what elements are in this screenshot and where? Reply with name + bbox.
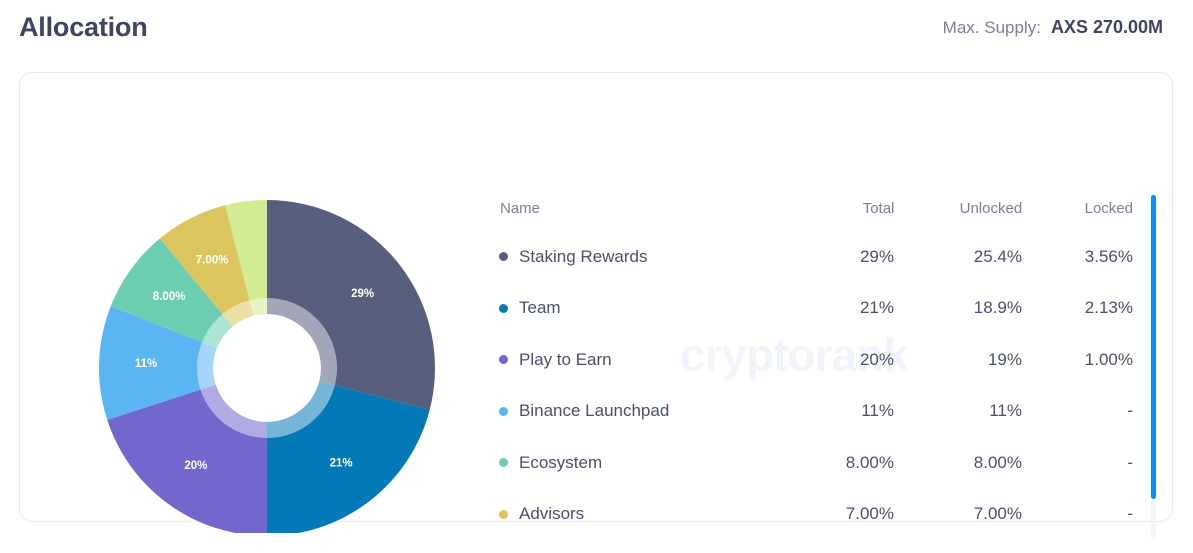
donut-slice-label: 29% [351,288,374,300]
row-total-cell: 29% [779,247,894,267]
row-unlocked-cell: 8.00% [894,453,1022,473]
allocation-table: Name Total Unlocked Locked Staking Rewar… [499,193,1133,540]
legend-dot-icon [499,510,508,519]
donut-hole [213,314,321,422]
column-header-name: Name [499,200,780,217]
legend-dot-icon [499,407,508,416]
row-name-cell: Team [499,298,779,318]
max-supply-block: Max. Supply: AXS 270.00M [943,17,1163,38]
legend-dot-icon [499,458,508,467]
legend-dot-icon [499,252,508,261]
row-total-cell: 21% [779,298,894,318]
row-total-cell: 11% [779,401,894,421]
row-locked-cell: 1.00% [1022,350,1133,370]
table-row[interactable]: Ecosystem8.00%8.00%- [499,437,1133,489]
donut-slice-label: 8.00% [153,291,186,303]
donut-slice-label: 11% [135,358,157,370]
table-scrollbar-thumb[interactable] [1151,195,1156,499]
row-name-cell: Play to Earn [499,350,779,370]
table-row[interactable]: Binance Launchpad11%11%- [499,386,1133,438]
max-supply-value: AXS 270.00M [1051,17,1163,38]
row-name-cell: Binance Launchpad [499,401,779,421]
donut-svg: 29%21%20%11%8.00%7.00% [80,183,460,533]
max-supply-label: Max. Supply: [943,18,1041,38]
table-row[interactable]: Advisors7.00%7.00%- [499,489,1133,541]
row-total-cell: 8.00% [779,453,894,473]
legend-dot-icon [499,304,508,313]
row-name-label: Ecosystem [519,453,602,473]
row-name-label: Team [519,298,561,318]
legend-dot-icon [499,355,508,364]
row-locked-cell: 3.56% [1022,247,1133,267]
table-row[interactable]: Play to Earn20%19%1.00% [499,334,1133,386]
table-body: Staking Rewards29%25.4%3.56%Team21%18.9%… [499,231,1133,540]
row-unlocked-cell: 18.9% [894,298,1022,318]
table-header-row: Name Total Unlocked Locked [499,193,1133,223]
allocation-donut-chart: 29%21%20%11%8.00%7.00% [80,183,460,533]
row-locked-cell: - [1022,401,1133,421]
donut-slice-label: 21% [330,458,353,470]
allocation-card: cryptorank 29%21%20%11%8.00%7.00% Name T… [19,72,1173,522]
donut-slice-label: 20% [184,460,207,472]
row-name-label: Staking Rewards [519,247,648,267]
page-header: Allocation Max. Supply: AXS 270.00M [0,0,1193,60]
row-name-label: Binance Launchpad [519,401,669,421]
page-title: Allocation [19,12,148,43]
column-header-total: Total [780,200,895,217]
row-name-cell: Staking Rewards [499,247,779,267]
row-total-cell: 20% [779,350,894,370]
row-total-cell: 7.00% [779,504,894,524]
donut-slice-label: 7.00% [196,254,229,266]
row-name-cell: Ecosystem [499,453,779,473]
row-name-label: Advisors [519,504,584,524]
row-unlocked-cell: 7.00% [894,504,1022,524]
row-locked-cell: - [1022,504,1133,524]
row-locked-cell: - [1022,453,1133,473]
row-unlocked-cell: 25.4% [894,247,1022,267]
column-header-unlocked: Unlocked [894,200,1022,217]
row-unlocked-cell: 19% [894,350,1022,370]
column-header-locked: Locked [1022,200,1133,217]
row-unlocked-cell: 11% [894,401,1022,421]
row-name-label: Play to Earn [519,350,612,370]
table-row[interactable]: Staking Rewards29%25.4%3.56% [499,231,1133,283]
row-name-cell: Advisors [499,504,779,524]
table-row[interactable]: Team21%18.9%2.13% [499,283,1133,335]
row-locked-cell: 2.13% [1022,298,1133,318]
